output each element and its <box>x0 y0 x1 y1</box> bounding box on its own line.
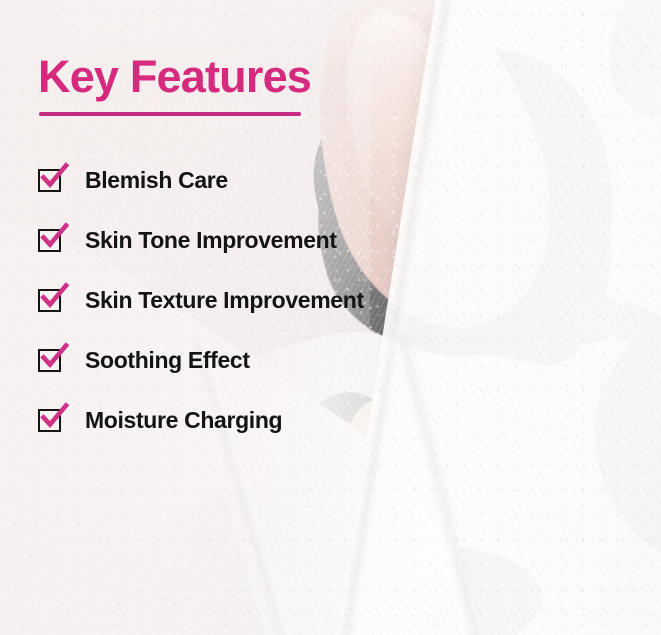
feature-callout-card: Key Features Blemish Care Skin Tone Impr… <box>0 0 661 635</box>
feature-list-item: Moisture Charging <box>38 390 458 450</box>
feature-label: Blemish Care <box>85 167 228 194</box>
title-underline-rule <box>39 112 301 116</box>
checkbox-checked-icon[interactable] <box>38 169 61 192</box>
feature-list-item: Skin Tone Improvement <box>38 210 458 270</box>
checkbox-checked-icon[interactable] <box>38 349 61 372</box>
feature-list-item: Skin Texture Improvement <box>38 270 458 330</box>
feature-label: Soothing Effect <box>85 347 250 374</box>
feature-label: Skin Texture Improvement <box>85 287 364 314</box>
feature-label: Moisture Charging <box>85 407 282 434</box>
checkbox-checked-icon[interactable] <box>38 289 61 312</box>
feature-label: Skin Tone Improvement <box>85 227 337 254</box>
page-title: Key Features <box>38 54 311 99</box>
feature-list: Blemish Care Skin Tone Improvement Skin … <box>38 150 458 450</box>
callout-content: Key Features Blemish Care Skin Tone Impr… <box>0 0 661 635</box>
feature-list-item: Blemish Care <box>38 150 458 210</box>
checkbox-checked-icon[interactable] <box>38 229 61 252</box>
feature-list-item: Soothing Effect <box>38 330 458 390</box>
checkbox-checked-icon[interactable] <box>38 409 61 432</box>
